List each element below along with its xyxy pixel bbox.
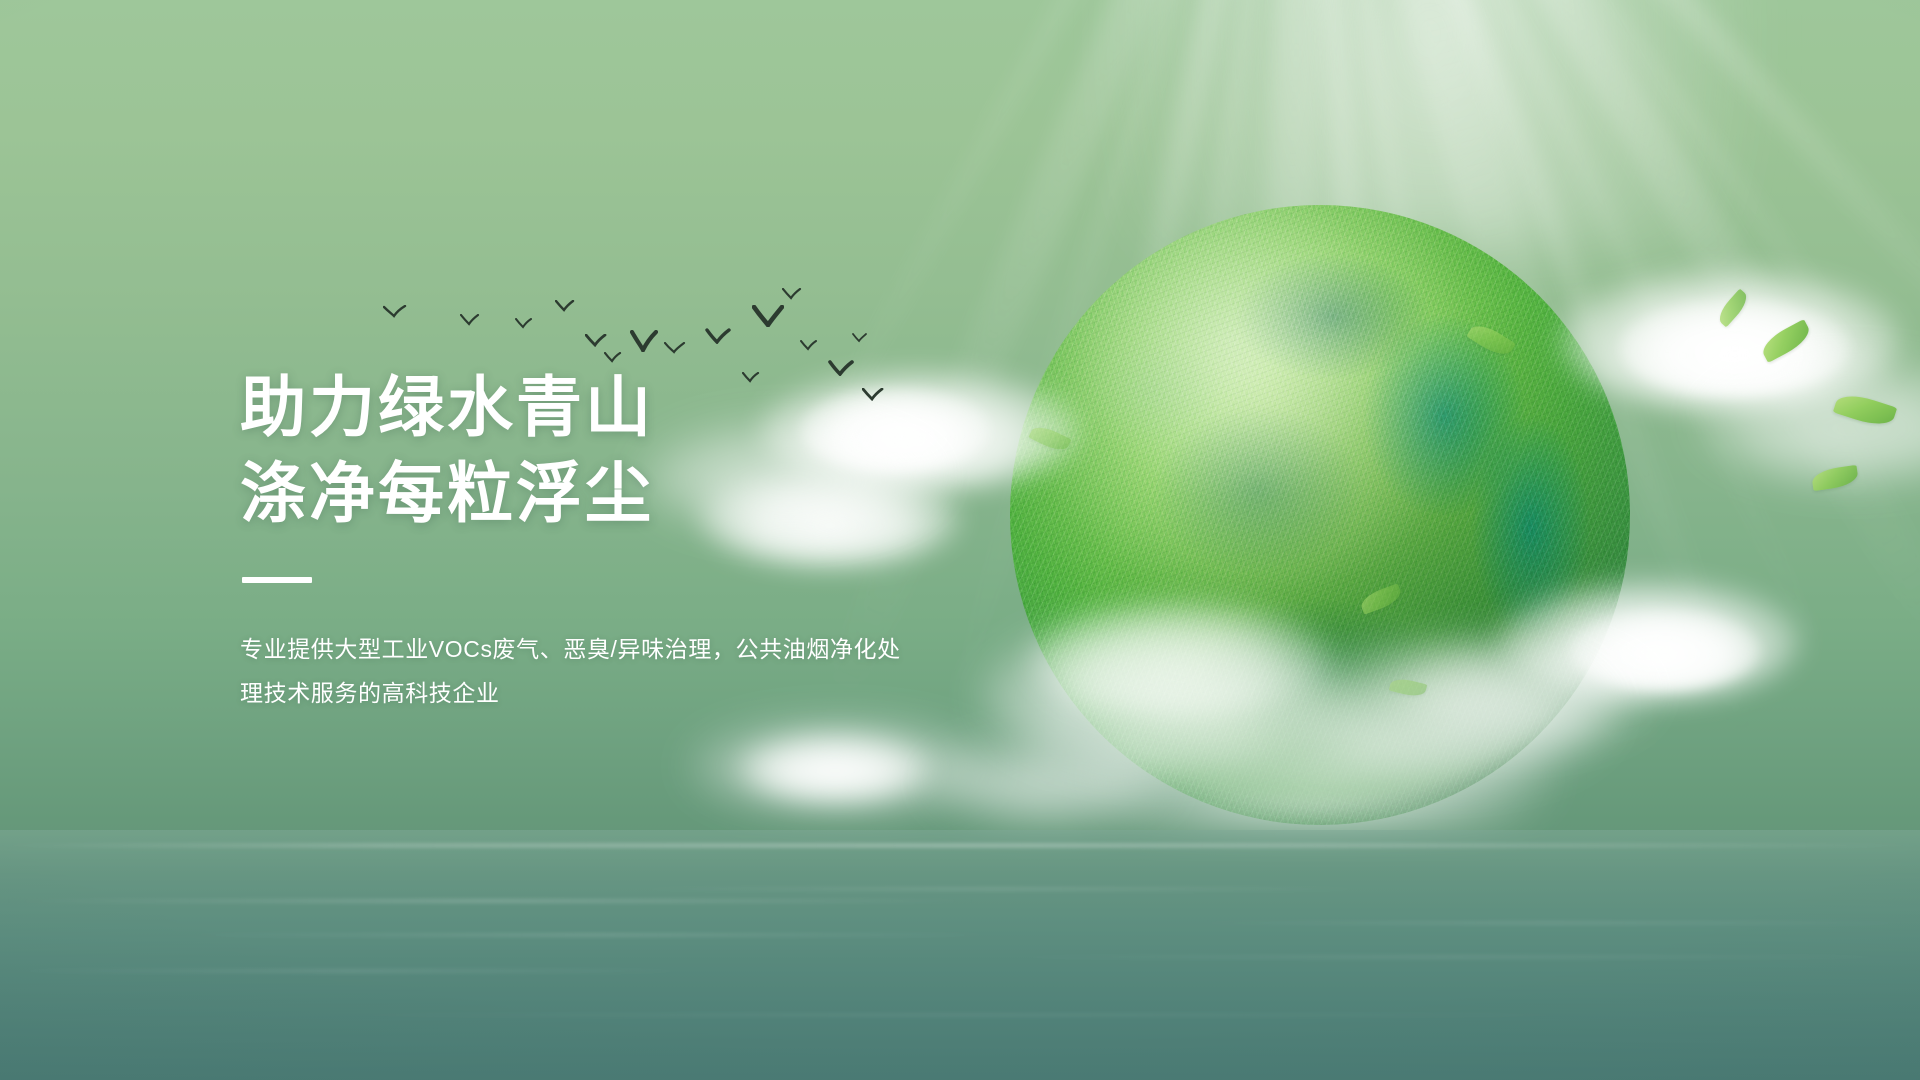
bird-icon xyxy=(630,330,658,352)
hero-subtitle: 专业提供大型工业VOCs废气、恶臭/异味治理，公共油烟净化处理技术服务的高科技企… xyxy=(240,627,912,715)
bird-icon xyxy=(383,305,407,318)
bird-icon xyxy=(555,300,575,312)
headline-line-2: 涤净每粒浮尘 xyxy=(240,451,1000,537)
bird-icon xyxy=(664,342,686,354)
bird-icon xyxy=(752,305,784,327)
headline-line-1: 助力绿水青山 xyxy=(240,365,1000,451)
bird-icon xyxy=(800,340,818,351)
bird-icon xyxy=(515,318,533,329)
bird-icon xyxy=(604,352,622,363)
water-surface xyxy=(0,830,1920,1080)
bird-icon xyxy=(852,333,868,343)
bird-icon xyxy=(705,328,731,344)
bird-icon xyxy=(585,334,607,347)
hero-banner: 助力绿水青山 涤净每粒浮尘 专业提供大型工业VOCs废气、恶臭/异味治理，公共油… xyxy=(0,0,1920,1080)
bird-icon xyxy=(782,288,802,300)
bird-icon xyxy=(460,314,480,326)
cloud xyxy=(1280,640,1610,780)
cloud xyxy=(740,735,930,799)
headline-divider xyxy=(242,577,312,583)
hero-text-block: 助力绿水青山 涤净每粒浮尘 专业提供大型工业VOCs废气、恶臭/异味治理，公共油… xyxy=(240,365,1000,715)
